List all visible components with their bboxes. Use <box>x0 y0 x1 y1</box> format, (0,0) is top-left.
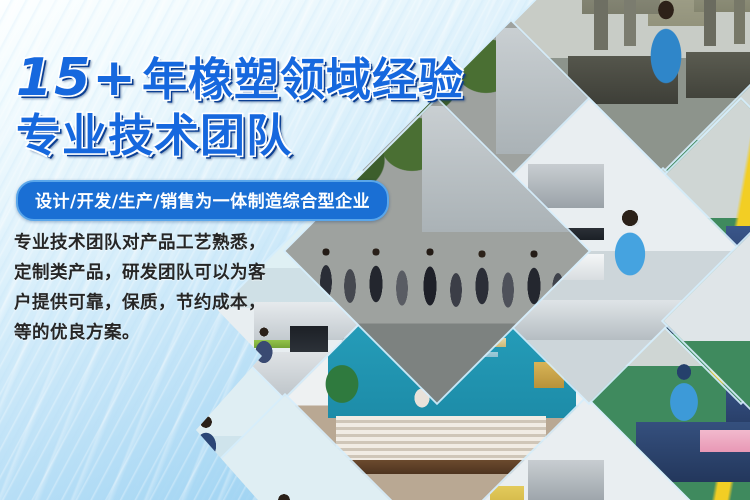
photo-assembly-right <box>590 248 750 500</box>
headline-line-1-text: 年橡塑领域经验 <box>142 53 464 106</box>
collage-tile-assembly-right-upper <box>590 100 750 403</box>
collage-tile-assembly-line-lower <box>512 170 750 473</box>
photo-injection-press-bottom <box>512 466 750 500</box>
collage-tile-assembly-right <box>590 248 750 500</box>
collage-tile-meeting-room-bottom <box>208 466 511 500</box>
photo-press-far-right <box>664 170 750 473</box>
years-number: 15+ <box>16 48 142 108</box>
collage-tile-press-far-right <box>664 170 750 473</box>
photo-assembly-line-lower <box>512 170 750 473</box>
photo-qc-upper <box>438 100 741 403</box>
text-panel: 15+年橡塑领域经验 专业技术团队 设计/开发/生产/销售为一体制造综合型企业 … <box>0 0 470 360</box>
collage-tile-machinery-presses <box>512 0 750 176</box>
headline-line-2: 专业技术团队 <box>16 112 292 160</box>
collage-tile-qc-lower <box>438 396 741 500</box>
collage-tile-lower-filler <box>208 466 511 500</box>
headline-line-1: 15+年橡塑领域经验 <box>16 54 464 104</box>
collage-tile-qc-upper <box>438 100 741 403</box>
photo-injection-press-right <box>664 318 750 500</box>
photo-meeting-room-left <box>134 396 437 500</box>
photo-meeting-room-bottom <box>208 466 511 500</box>
photo-qc-lower <box>438 396 741 500</box>
promotional-banner: 15+年橡塑领域经验 专业技术团队 设计/开发/生产/销售为一体制造综合型企业 … <box>0 0 750 500</box>
photo-machinery-presses <box>512 0 750 176</box>
collage-tile-meeting-room-left <box>134 396 437 500</box>
body-copy: 专业技术团队对产品工艺熟悉，定制类产品，研发团队可以为客户提供可靠，保质，节约成… <box>14 228 274 348</box>
tagline-badge: 设计/开发/生产/销售为一体制造综合型企业 <box>16 180 389 221</box>
photo-assembly-line-upper <box>664 22 750 325</box>
collage-tile-assembly-line-upper <box>664 22 750 325</box>
photo-lower-filler <box>208 466 511 500</box>
collage-tile-press-right <box>664 318 750 500</box>
collage-tile-press-bottom <box>512 466 750 500</box>
photo-assembly-right-upper <box>590 100 750 403</box>
